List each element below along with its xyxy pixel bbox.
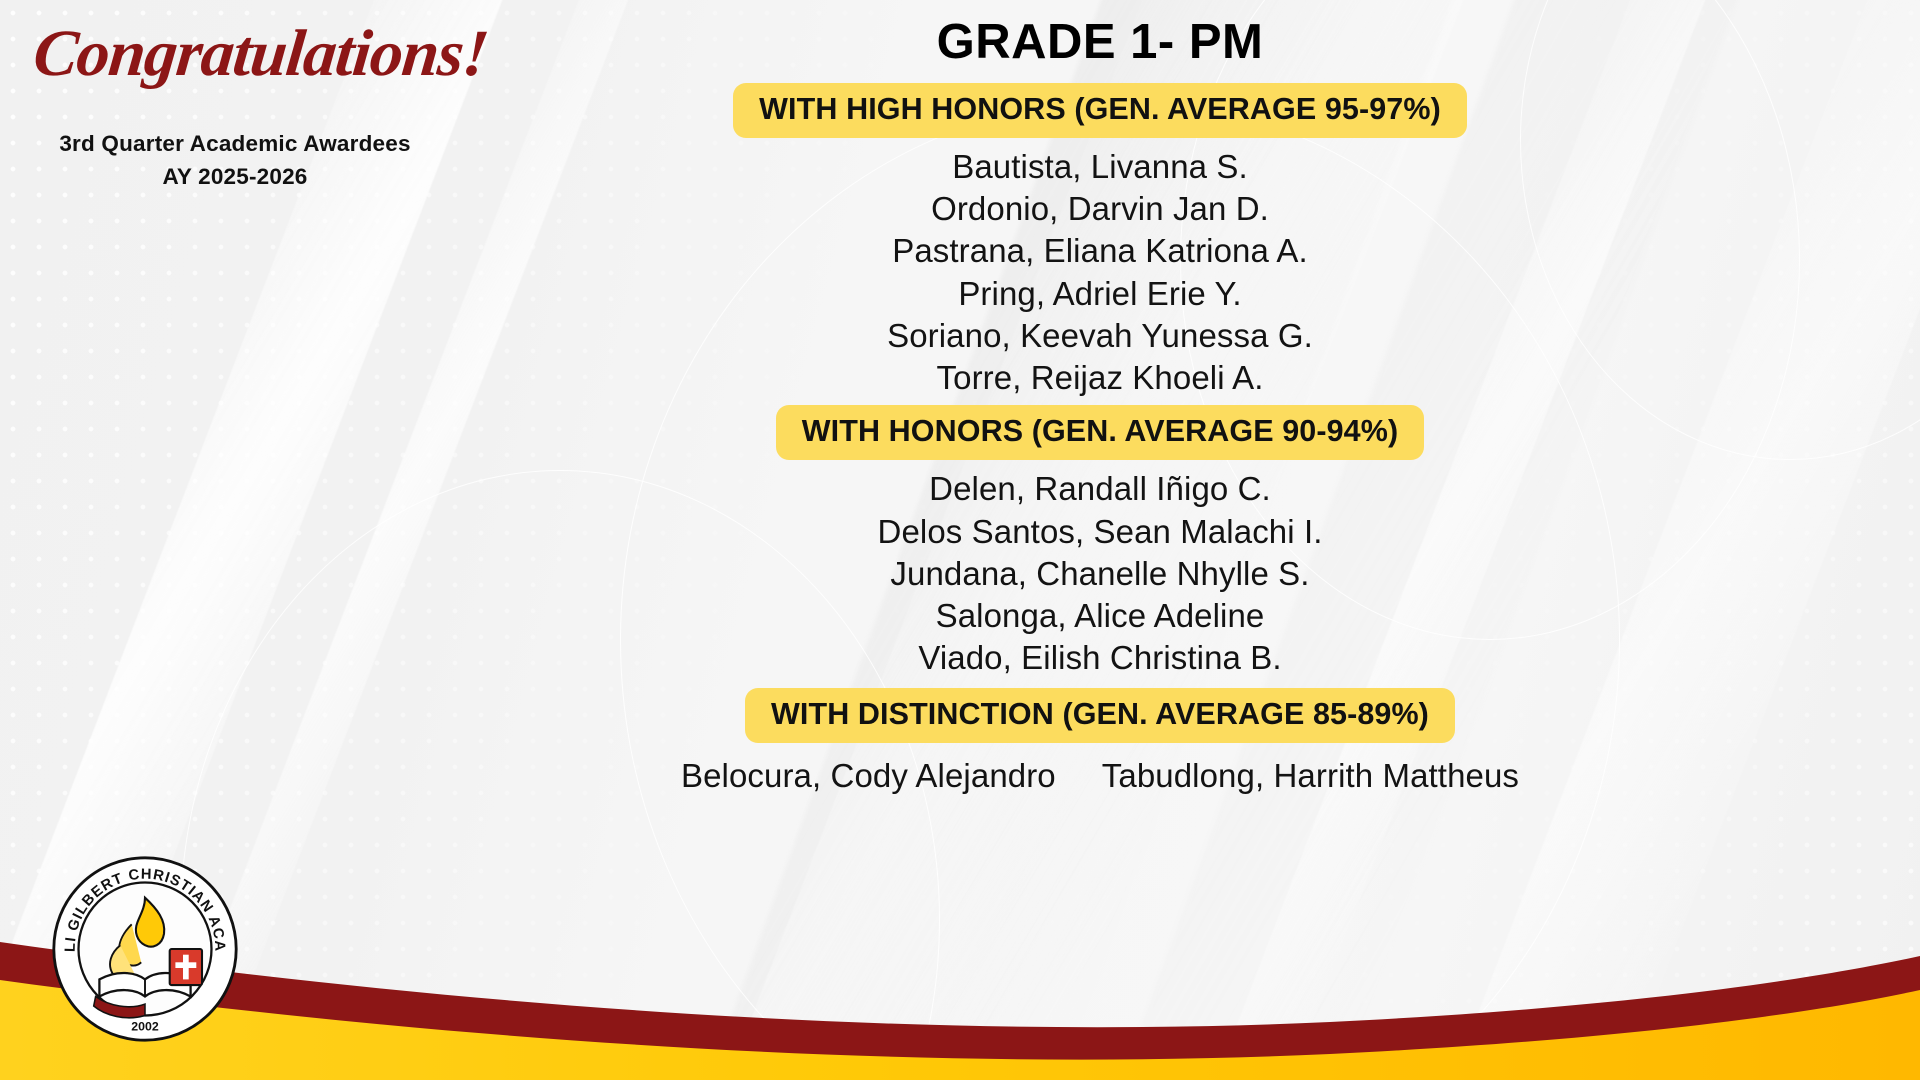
section-banner-high-honors: WITH HIGH HONORS (GEN. AVERAGE 95-97%) (733, 83, 1467, 138)
cross-icon (170, 949, 202, 985)
section-honors: WITH HONORS (GEN. AVERAGE 90-94%) Delen,… (600, 399, 1600, 679)
subtitle-line-quarter: 3rd Quarter Academic Awardees (0, 128, 470, 161)
awardee-list-high-honors: Bautista, Livanna S. Ordonio, Darvin Jan… (600, 146, 1600, 399)
logo-year: 2002 (131, 1020, 159, 1034)
subtitle-block: 3rd Quarter Academic Awardees AY 2025-20… (0, 128, 470, 193)
congratulations-headline: Congratulations! (30, 16, 492, 92)
list-item: Jundana, Chanelle Nhylle S. (600, 553, 1600, 595)
awardee-list-honors: Delen, Randall Iñigo C. Delos Santos, Se… (600, 468, 1600, 679)
subtitle-line-year: AY 2025-2026 (0, 161, 470, 194)
list-item: Tabudlong, Harrith Mattheus (1102, 757, 1519, 795)
list-item: Bautista, Livanna S. (600, 146, 1600, 188)
section-banner-honors: WITH HONORS (GEN. AVERAGE 90-94%) (776, 405, 1424, 460)
section-banner-distinction: WITH DISTINCTION (GEN. AVERAGE 85-89%) (745, 688, 1455, 743)
list-item: Torre, Reijaz Khoeli A. (600, 357, 1600, 399)
list-item: Delen, Randall Iñigo C. (600, 468, 1600, 510)
list-item: Ordonio, Darvin Jan D. (600, 188, 1600, 230)
awardees-panel: GRADE 1- PM WITH HIGH HONORS (GEN. AVERA… (600, 0, 1600, 1080)
school-logo: ANGELI GILBERT CHRISTIAN ACADEMY 2002 (50, 854, 240, 1044)
list-item: Pring, Adriel Erie Y. (600, 273, 1600, 315)
list-item: Viado, Eilish Christina B. (600, 637, 1600, 679)
list-item: Belocura, Cody Alejandro (681, 757, 1056, 795)
list-item: Delos Santos, Sean Malachi I. (600, 511, 1600, 553)
awardee-list-distinction: Belocura, Cody Alejandro Tabudlong, Harr… (600, 757, 1600, 795)
list-item: Salonga, Alice Adeline (600, 595, 1600, 637)
page-title: GRADE 1- PM (600, 14, 1600, 70)
section-high-honors: WITH HIGH HONORS (GEN. AVERAGE 95-97%) B… (600, 70, 1600, 399)
list-item: Soriano, Keevah Yunessa G. (600, 315, 1600, 357)
section-distinction: WITH DISTINCTION (GEN. AVERAGE 85-89%) B… (600, 680, 1600, 795)
list-item: Pastrana, Eliana Katriona A. (600, 230, 1600, 272)
